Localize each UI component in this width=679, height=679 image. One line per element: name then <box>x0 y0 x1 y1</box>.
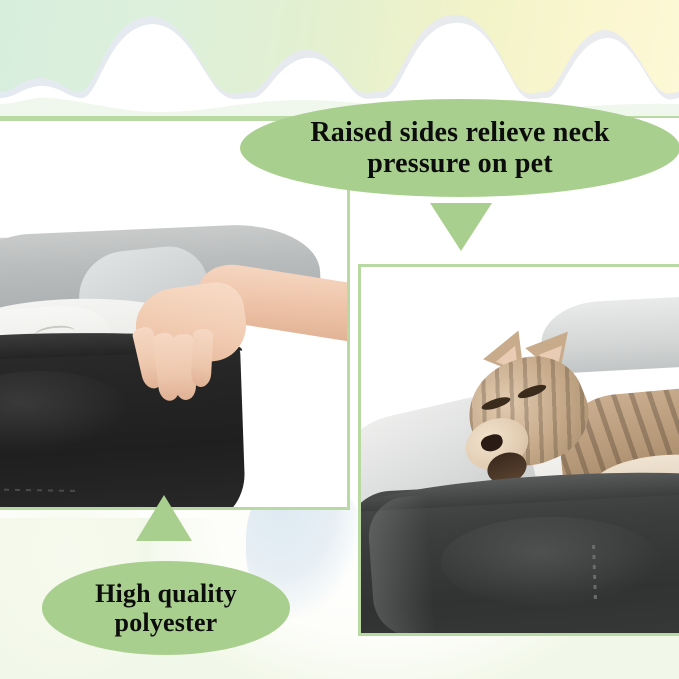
callout-high-quality: High quality polyester <box>42 561 290 655</box>
bed-fabric-sheen-right <box>441 517 661 607</box>
callout-raised-sides: Raised sides relieve neck pressure on pe… <box>240 99 679 197</box>
triangle-up-icon <box>136 495 192 541</box>
infographic-canvas: Raised sides relieve neck pressure on pe… <box>0 0 679 679</box>
wave-pattern-icon <box>0 0 679 122</box>
model-finger-4 <box>190 329 213 388</box>
callout-raised-sides-text: Raised sides relieve neck pressure on pe… <box>266 117 654 180</box>
callout-high-quality-text: High quality polyester <box>56 579 276 637</box>
triangle-down-icon <box>430 203 492 251</box>
photo-cat-in-bed <box>358 264 679 636</box>
photo-content-right <box>361 267 679 633</box>
